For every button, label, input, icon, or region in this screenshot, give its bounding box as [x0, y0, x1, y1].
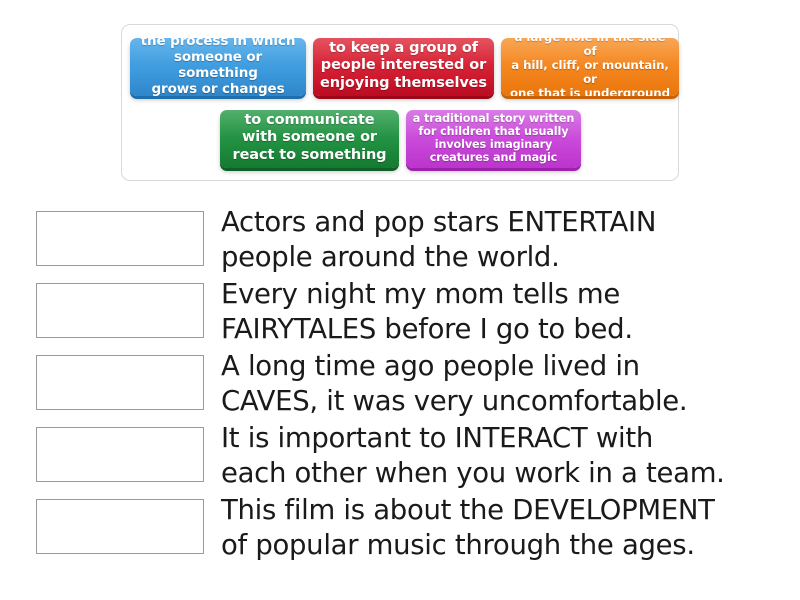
definition-tile-cave[interactable]: a large hole in the side of a hill, clif… — [501, 38, 679, 96]
answer-row: This film is about the DEVELOPMENT of po… — [36, 492, 776, 564]
sentence-text: Every night my mom tells me FAIRYTALES b… — [221, 276, 633, 348]
definition-tile-entertain[interactable]: to keep a group of people interested or … — [313, 38, 494, 96]
definition-tile-text: to keep a group of people interested or … — [320, 40, 487, 91]
drop-zone-caves[interactable] — [36, 355, 204, 410]
answer-list: Actors and pop stars ENTERTAIN people ar… — [36, 204, 776, 564]
definition-tile-development[interactable]: the process in which someone or somethin… — [130, 38, 306, 96]
drop-zone-development[interactable] — [36, 499, 204, 554]
tile-row-top: the process in which someone or somethin… — [130, 38, 679, 96]
sentence-text: It is important to INTERACT with each ot… — [221, 420, 725, 492]
answer-row: Actors and pop stars ENTERTAIN people ar… — [36, 204, 776, 276]
drop-zone-entertain[interactable] — [36, 211, 204, 266]
definition-tile-text: to communicate with someone or react to … — [233, 112, 387, 163]
definition-tile-text: a traditional story written for children… — [413, 112, 574, 165]
tile-bank: the process in which someone or somethin… — [121, 24, 679, 181]
answer-row: A long time ago people lived in CAVES, i… — [36, 348, 776, 420]
drop-zone-interact[interactable] — [36, 427, 204, 482]
definition-tile-fairytale[interactable]: a traditional story written for children… — [406, 110, 581, 168]
definition-tile-text: a large hole in the side of a hill, clif… — [507, 38, 673, 96]
sentence-text: This film is about the DEVELOPMENT of po… — [221, 492, 715, 564]
sentence-text: A long time ago people lived in CAVES, i… — [221, 348, 687, 420]
drop-zone-fairytales[interactable] — [36, 283, 204, 338]
sentence-text: Actors and pop stars ENTERTAIN people ar… — [221, 204, 656, 276]
definition-tile-text: the process in which someone or somethin… — [136, 38, 300, 96]
definition-tile-interact[interactable]: to communicate with someone or react to … — [220, 110, 399, 168]
answer-row: Every night my mom tells me FAIRYTALES b… — [36, 276, 776, 348]
answer-row: It is important to INTERACT with each ot… — [36, 420, 776, 492]
tile-row-bottom: to communicate with someone or react to … — [220, 110, 581, 168]
